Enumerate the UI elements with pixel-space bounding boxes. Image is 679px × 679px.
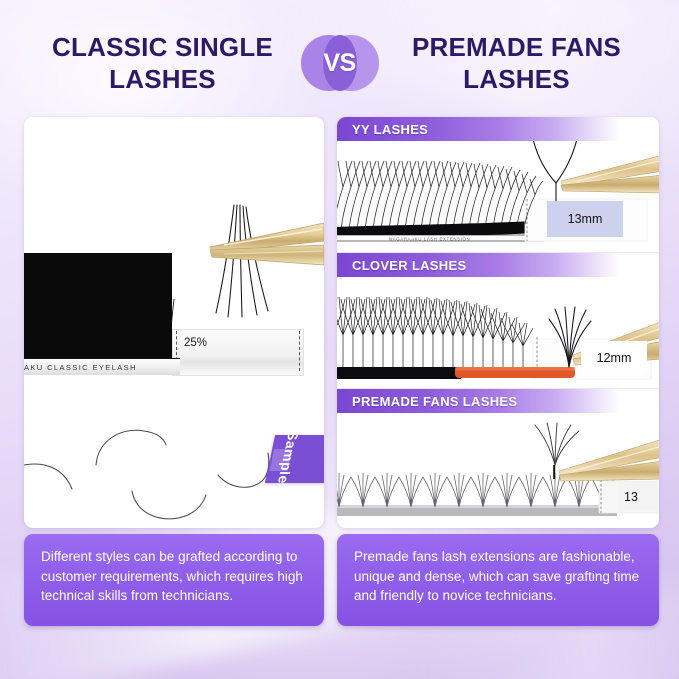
vs-label: VS [323,49,355,78]
section-header-yy: YY LASHES [337,117,659,141]
classic-lashes-photo-panel: 25% AKU CLASSIC EYELASH Sample [24,117,324,528]
section-label: YY LASHES [337,122,428,137]
section-label: CLOVER LASHES [337,258,466,273]
poster-header: CLASSIC SINGLE LASHES VS PREMADE FANS LA… [0,24,679,102]
section-premade-fans-lashes: PREMADE FANS LASHES [337,389,659,528]
right-heading: PREMADE FANS LASHES [379,31,651,95]
strip-brand-text: AKU CLASSIC EYELASH [24,363,137,372]
section-body-clover: 12mm [337,277,659,388]
right-caption-box: Premade fans lash extensions are fashion… [337,534,659,626]
section-yy-lashes: YY LASHES [337,117,659,252]
classic-lashes-artwork: 25% AKU CLASSIC EYELASH Sample [24,117,324,528]
vs-badge: VS [301,32,379,94]
sample-tag: Sample [265,435,324,483]
section-header-premade: PREMADE FANS LASHES [337,389,659,413]
measurement-chip-premade: 13 [619,483,658,511]
left-caption-box: Different styles can be grafted accordin… [24,534,324,626]
measurement-chip-yy: 13mm [547,201,623,237]
section-body-premade: 13 [337,413,659,528]
percent-label: 25% [184,337,207,349]
section-header-clover: CLOVER LASHES [337,253,659,277]
section-clover-lashes: CLOVER LASHES [337,253,659,388]
premade-fans-illustration [337,413,659,528]
poster-canvas: CLASSIC SINGLE LASHES VS PREMADE FANS LA… [0,0,679,679]
left-heading: CLASSIC SINGLE LASHES [29,31,301,95]
measure-tick-right [299,331,300,371]
classic-lash-band [24,253,172,361]
premade-fans-photo-panel: YY LASHES [337,117,659,528]
measurement-chip-clover: 12mm [581,341,647,375]
section-body-yy: NAGARAAKU LASH EXTENSION [337,141,659,252]
sample-tag-text: Sample [275,435,302,483]
section-label: PREMADE FANS LASHES [337,394,517,409]
lash-strip-label-bar: AKU CLASSIC EYELASH [24,358,180,375]
